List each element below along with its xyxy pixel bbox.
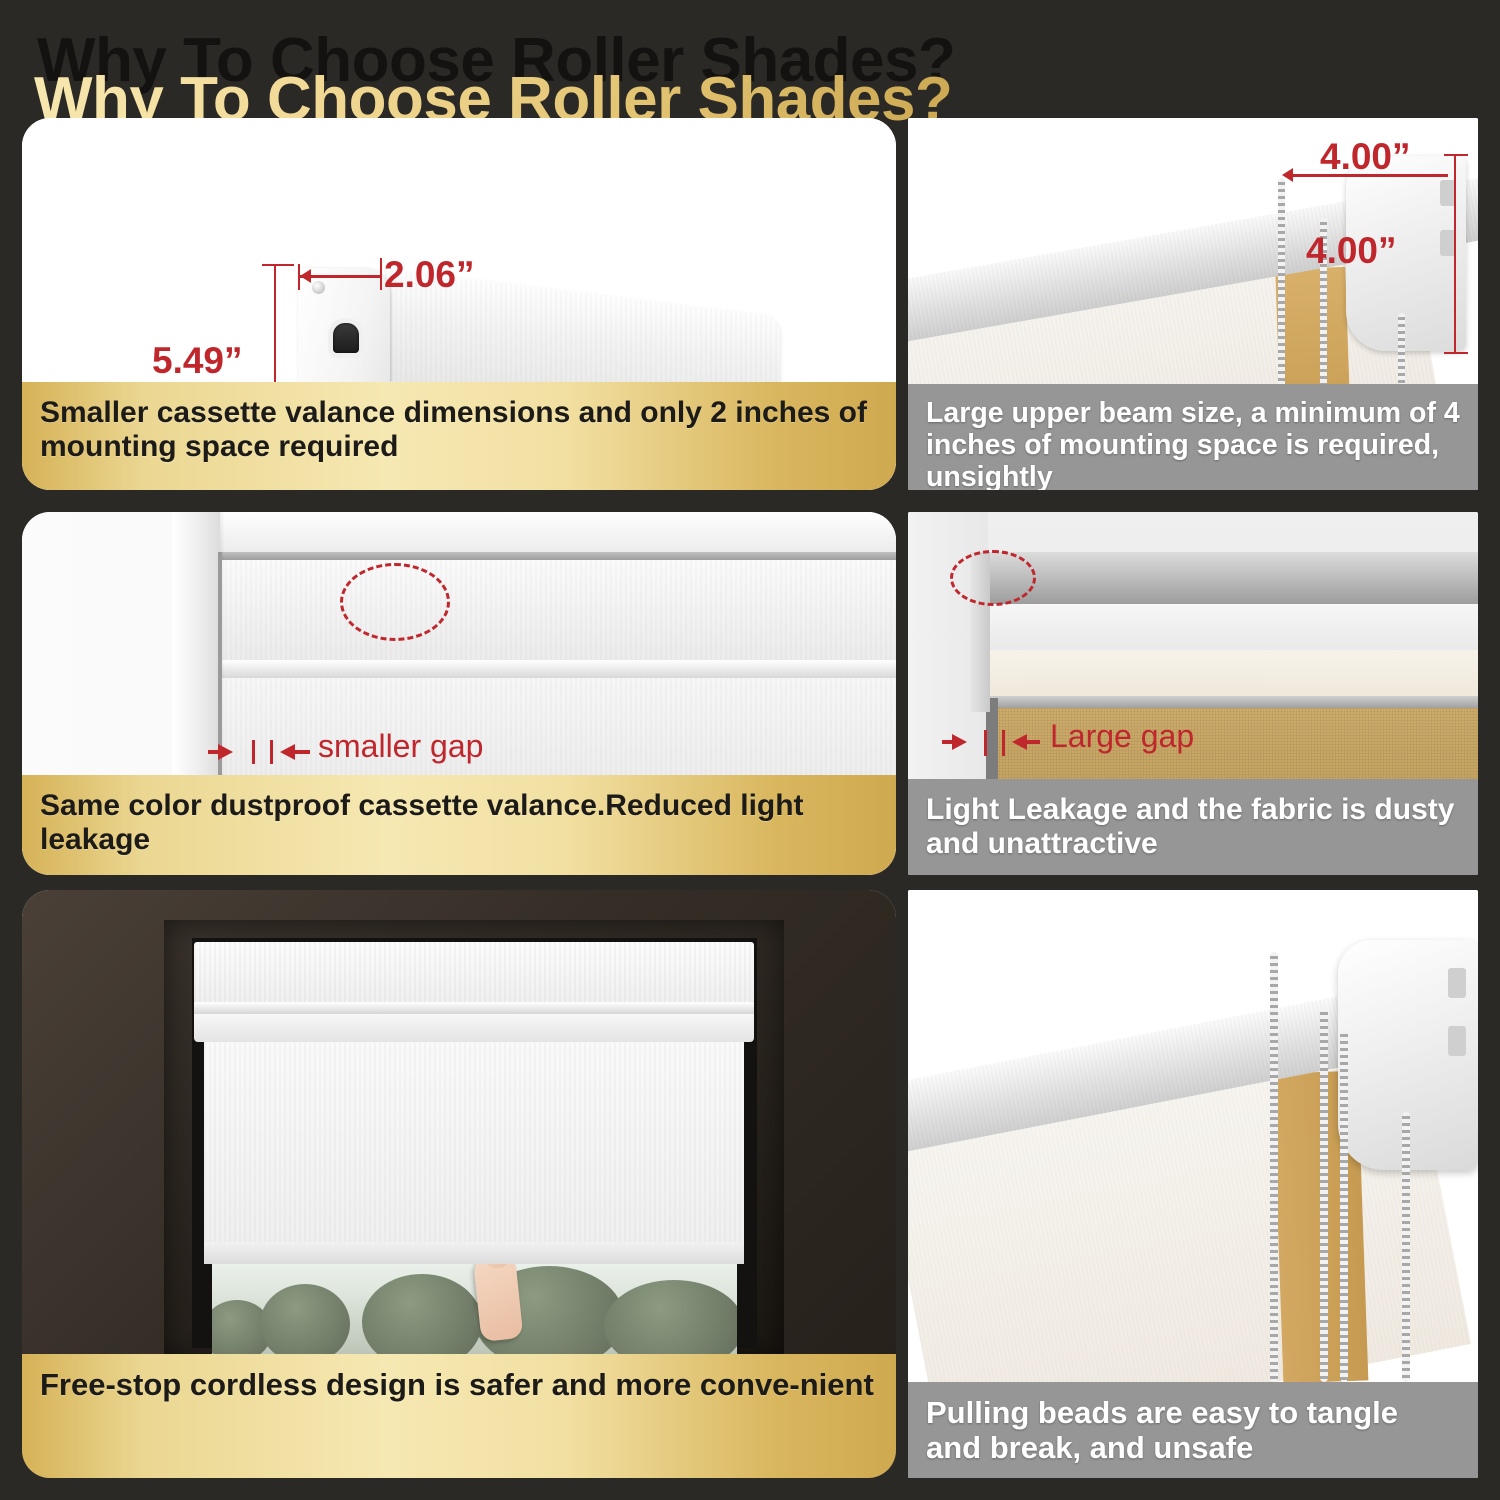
- cassette-head-lower: [194, 1014, 754, 1042]
- dim-width-tick-right: [380, 258, 382, 290]
- bead-chain-1: [1278, 178, 1285, 393]
- caption-free-stop-cordless: Free-stop cordless design is safer and m…: [22, 1354, 896, 1478]
- gap-arrow-left-stem: [208, 750, 224, 754]
- dim-width-arrow-left: [300, 269, 311, 283]
- gap-tick-right: [270, 740, 273, 764]
- cord-slot: [333, 323, 359, 353]
- bottom-rail: [204, 1242, 744, 1264]
- caption-pulling-beads: Pulling beads are easy to tangle and bre…: [908, 1382, 1478, 1478]
- dim-height-label: 5.49”: [152, 340, 243, 382]
- dim-height-tick-top: [262, 264, 294, 266]
- bead-chain-4: [1402, 1112, 1410, 1382]
- gap-arrow-right-stem: [294, 750, 310, 754]
- caption-large-upper-beam: Large upper beam size, a minimum of 4 in…: [908, 384, 1478, 490]
- gap-label-large: Large gap: [1050, 718, 1194, 755]
- dim-beam-height-label: 4.00”: [1306, 230, 1397, 272]
- highlight-circle-smaller-gap: [340, 563, 450, 641]
- dim-width-label: 2.06”: [384, 254, 475, 296]
- highlight-circle-large-gap: [950, 550, 1036, 606]
- gap-arrow-right-stem: [1026, 740, 1040, 744]
- cassette-head: [194, 942, 754, 1004]
- panel-free-stop-cordless: Free-stop cordless design is safer and m…: [22, 890, 896, 1478]
- dim-beam-height-tick-top: [1444, 154, 1468, 156]
- shade-upper: [220, 560, 896, 660]
- screw-hole-top: [312, 281, 325, 294]
- gap-tick-left: [984, 730, 987, 756]
- dim-width-line: [300, 275, 380, 278]
- panel-light-leakage: Large gap Light Leakage and the fabric i…: [908, 512, 1478, 875]
- beam-mid: [986, 604, 1478, 652]
- beam-cream: [986, 650, 1478, 698]
- gap-arrow-right: [280, 744, 295, 760]
- caption-smaller-cassette-valance: Smaller cassette valance dimensions and …: [22, 382, 896, 490]
- dim-beam-height-line: [1454, 154, 1456, 354]
- window-frame-side: [172, 512, 220, 812]
- panel-large-upper-beam: 4.00” 4.00” Large upper beam size, a min…: [908, 118, 1478, 490]
- shade-fabric: [204, 1042, 744, 1242]
- bead-chain-3: [1398, 313, 1405, 393]
- gap-arrow-right: [1012, 734, 1027, 750]
- gap-label-smaller: smaller gap: [318, 728, 483, 765]
- panel-same-color-dustproof-cassette: smaller gap Same color dustproof cassett…: [22, 512, 896, 875]
- caption-light-leakage: Light Leakage and the fabric is dusty an…: [908, 779, 1478, 875]
- panel-pulling-beads: Pulling beads are easy to tangle and bre…: [908, 890, 1478, 1478]
- dim-beam-width-label: 4.00”: [1320, 136, 1411, 178]
- window-frame-top: [172, 512, 896, 552]
- gap-tick-left: [252, 740, 255, 764]
- beam-rail: [986, 696, 1478, 708]
- panel-smaller-cassette-valance: 2.06” 5.49” Smaller cassette valance dim…: [22, 118, 896, 490]
- bead-chain-2: [1320, 1008, 1328, 1382]
- cassette-lip: [194, 1002, 754, 1014]
- gap-tick-right: [1002, 730, 1005, 756]
- bead-chain-3: [1340, 1030, 1348, 1382]
- bead-chain-1: [1270, 952, 1278, 1382]
- dim-beam-width-arrow: [1282, 168, 1293, 182]
- infographic-root: Why To Choose Roller Shades? Why To Choo…: [0, 0, 1500, 1500]
- gap-arrow-left-stem: [942, 740, 956, 744]
- dim-beam-height-tick-bottom: [1444, 352, 1468, 354]
- beam-top-dark: [986, 552, 1478, 604]
- caption-same-color-dustproof-cassette: Same color dustproof cassette valance.Re…: [22, 775, 896, 875]
- shade-divider: [220, 660, 896, 678]
